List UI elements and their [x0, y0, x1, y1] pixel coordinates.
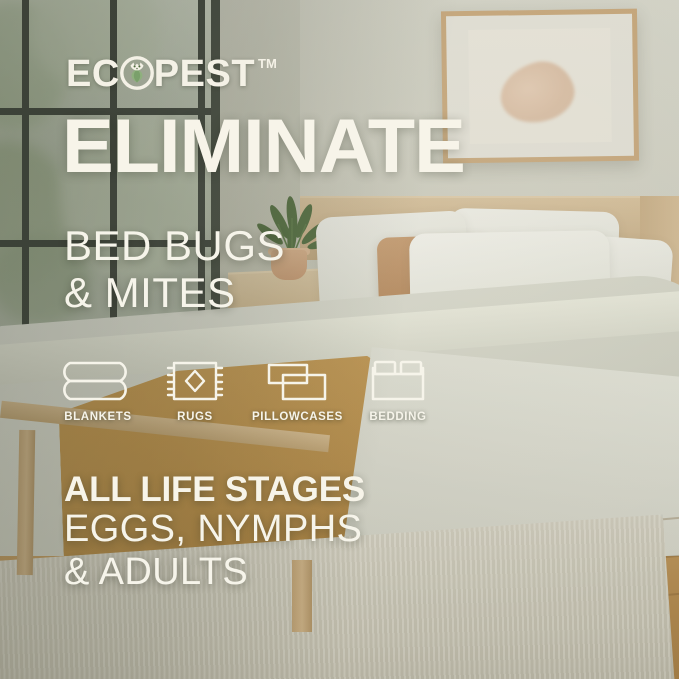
lifecycle-kicker: ALL LIFE STAGES	[64, 470, 365, 510]
surface-item-blankets: BLANKETS	[58, 358, 138, 423]
lifecycle-line-1: EGGS, NYMPHS	[64, 508, 362, 551]
surface-item-pillowcases: PILLOWCASES	[252, 358, 343, 423]
lifecycle-detail: EGGS, NYMPHS & ADULTS	[64, 508, 362, 595]
brand-name-suffix: PEST	[154, 55, 255, 93]
surface-label: PILLOWCASES	[252, 411, 343, 423]
surface-label: BLANKETS	[64, 411, 131, 423]
subheadline-line-1: BED BUGS	[64, 222, 285, 269]
marketing-copy-overlay: EC PEST TM ELIMINATE BED BUGS & MITES	[0, 0, 679, 679]
surface-label: BEDDING	[369, 411, 426, 423]
page-title: ELIMINATE	[62, 112, 465, 182]
stacked-pillowcases-icon	[261, 358, 333, 404]
leaf-bloom-icon	[120, 56, 154, 90]
surface-item-bedding: BEDDING	[369, 358, 427, 423]
subheadline: BED BUGS & MITES	[64, 222, 285, 316]
brand-name-prefix: EC	[66, 55, 120, 93]
brand-logo: EC PEST TM	[66, 55, 277, 93]
fringed-rug-icon	[164, 358, 226, 404]
surface-label: RUGS	[177, 411, 213, 423]
lifecycle-line-2: & ADULTS	[64, 551, 362, 594]
trademark-symbol: TM	[258, 56, 277, 71]
surface-item-rugs: RUGS	[164, 358, 226, 423]
folded-blanket-icon	[58, 358, 138, 404]
product-ad-banner: EC PEST TM ELIMINATE BED BUGS & MITES	[0, 0, 679, 679]
treated-surfaces-list: BLANKETS RUGS	[58, 358, 427, 423]
bed-with-pillows-icon	[369, 358, 427, 404]
subheadline-line-2: & MITES	[64, 269, 285, 316]
